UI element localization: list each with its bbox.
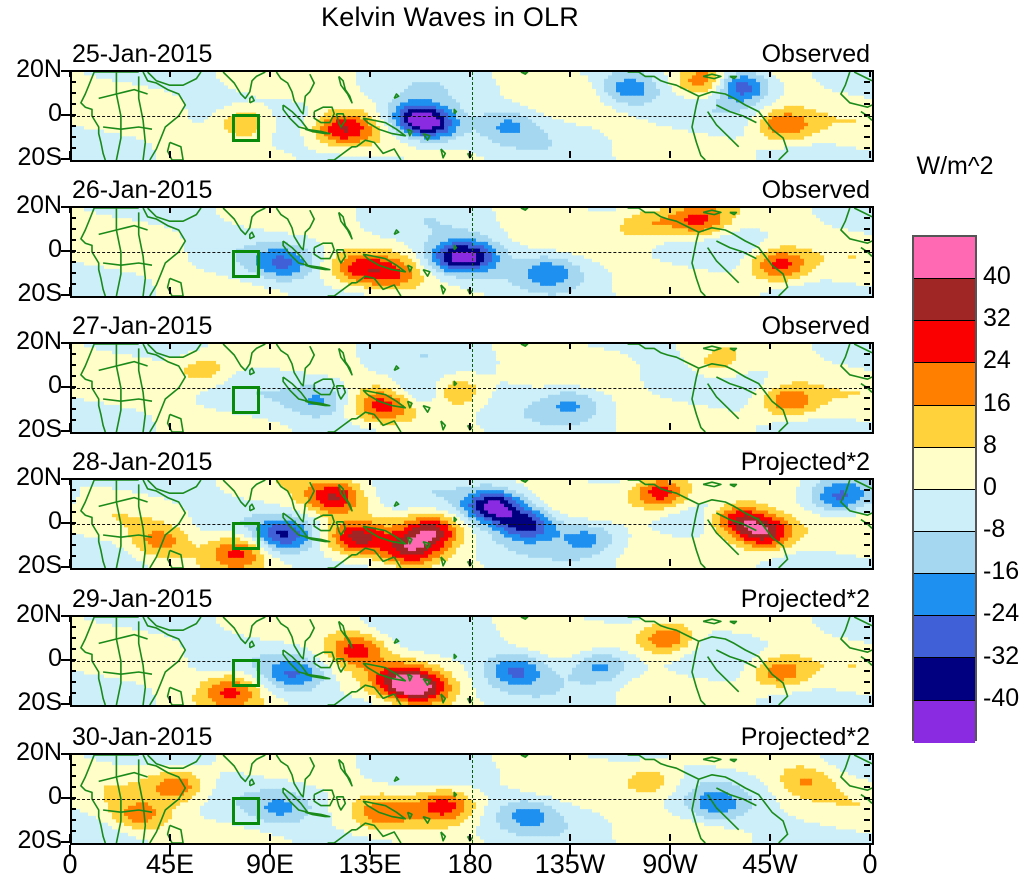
x-axis-tick-mark <box>169 696 171 703</box>
dateline-180-marker <box>472 755 473 843</box>
x-axis-tick-mark <box>469 423 471 430</box>
colorbar-band <box>914 237 975 279</box>
x-axis-tick-mark <box>269 206 271 213</box>
y-axis-minor-tick <box>70 283 76 285</box>
x-axis-tick-mark <box>269 834 271 841</box>
y-axis-minor-tick <box>70 670 76 672</box>
x-axis-tick-mark <box>569 615 571 622</box>
x-axis-tick-mark <box>269 423 271 430</box>
x-axis-tick-mark <box>269 753 271 760</box>
x-axis-tick-mark <box>69 559 71 566</box>
y-axis-minor-tick <box>864 147 870 149</box>
x-axis-tick-mark <box>769 753 771 760</box>
y-axis-minor-tick <box>70 626 76 628</box>
y-axis-minor-tick <box>70 408 76 410</box>
x-axis-tick-mark <box>69 70 71 77</box>
y-axis-minor-tick <box>70 364 76 366</box>
y-axis-minor-tick <box>864 419 870 421</box>
y-axis-minor-tick <box>70 659 76 661</box>
x-axis-tick-mark <box>869 615 871 622</box>
y-axis-minor-tick <box>70 353 76 355</box>
x-axis-tick-mark <box>869 478 871 485</box>
colorbar-tick-label: 0 <box>983 475 997 500</box>
colorbar-tick-label: 24 <box>983 348 1011 373</box>
y-axis-minor-tick <box>864 637 870 639</box>
region-box-marker <box>232 797 260 825</box>
y-axis-minor-tick <box>70 764 76 766</box>
x-axis-tick-mark <box>69 287 71 294</box>
y-axis-minor-tick <box>70 114 76 116</box>
dateline-180-marker <box>472 480 473 568</box>
x-axis-tick-mark <box>369 478 371 485</box>
x-axis-tick-mark <box>169 615 171 622</box>
y-axis-minor-tick <box>864 228 870 230</box>
colorbar-band <box>914 321 975 363</box>
colorbar-tick-label: 40 <box>983 264 1011 289</box>
x-axis-tick-mark <box>869 834 871 841</box>
region-box-marker <box>232 522 260 550</box>
x-axis-tick-mark <box>769 151 771 158</box>
dateline-180-marker <box>472 208 473 296</box>
x-axis-tick-mark <box>169 70 171 77</box>
x-axis-tick-mark <box>469 615 471 622</box>
map-panel <box>70 753 874 845</box>
y-axis-tick-mark <box>61 797 70 799</box>
x-axis-tick-mark <box>469 834 471 841</box>
y-axis-minor-tick <box>70 511 76 513</box>
y-axis-minor-tick <box>864 775 870 777</box>
x-axis-tick-mark <box>569 696 571 703</box>
y-axis-minor-tick <box>864 386 870 388</box>
x-axis-tick-mark <box>669 615 671 622</box>
colorbar-band <box>914 448 975 490</box>
colorbar-tick-label: -8 <box>983 517 1005 542</box>
y-axis-minor-tick <box>70 522 76 524</box>
x-axis-tick-mark <box>569 478 571 485</box>
x-axis-tick-mark <box>569 151 571 158</box>
x-axis-tick-mark <box>669 478 671 485</box>
y-axis-minor-tick <box>864 511 870 513</box>
x-axis-tick-mark <box>769 696 771 703</box>
x-axis-tick-mark <box>669 342 671 349</box>
y-axis-minor-tick <box>864 408 870 410</box>
x-axis-tick-mark <box>269 559 271 566</box>
x-axis-tick-mark <box>169 834 171 841</box>
x-axis-tick-mark <box>69 206 71 213</box>
y-axis-minor-tick <box>70 239 76 241</box>
colorbar-band <box>914 532 975 574</box>
y-axis-tick-mark <box>61 522 70 524</box>
x-axis-tick-mark <box>769 615 771 622</box>
colorbar-band <box>914 658 975 700</box>
region-box-marker <box>232 250 260 278</box>
x-axis-tick-mark <box>469 696 471 703</box>
x-axis-tick-mark <box>369 151 371 158</box>
x-axis-tick-mark <box>869 70 871 77</box>
x-axis-tick-mark <box>169 206 171 213</box>
y-axis-minor-tick <box>70 217 76 219</box>
y-axis-minor-tick <box>864 808 870 810</box>
y-axis-minor-tick <box>864 114 870 116</box>
y-axis-tick-mark <box>61 386 70 388</box>
x-axis-tick-mark <box>69 151 71 158</box>
colorbar-band <box>914 701 975 743</box>
panel-kind-label: Observed <box>70 178 870 203</box>
y-axis-minor-tick <box>864 103 870 105</box>
x-axis-tick-mark <box>169 753 171 760</box>
panel-kind-label: Projected*2 <box>70 450 870 475</box>
y-axis-minor-tick <box>864 239 870 241</box>
x-axis-tick-mark <box>569 423 571 430</box>
x-axis-tick-mark <box>169 151 171 158</box>
colorbar-tick-label: -24 <box>983 601 1019 626</box>
dateline-180-marker <box>472 617 473 705</box>
y-axis-tick-label: 20S <box>0 281 62 306</box>
y-axis-minor-tick <box>864 217 870 219</box>
y-axis-tick-mark <box>61 158 70 160</box>
y-axis-minor-tick <box>70 819 76 821</box>
y-axis-tick-label: 20S <box>0 553 62 578</box>
map-panel-inner <box>72 208 872 296</box>
y-axis-minor-tick <box>70 797 76 799</box>
map-panel-inner <box>72 72 872 160</box>
x-axis-tick-mark <box>369 287 371 294</box>
x-axis-tick-mark <box>869 559 871 566</box>
x-axis-tick-mark <box>469 151 471 158</box>
y-axis-minor-tick <box>864 786 870 788</box>
x-axis-tick-mark <box>669 834 671 841</box>
y-axis-minor-tick <box>70 544 76 546</box>
x-axis-tick-mark <box>769 478 771 485</box>
y-axis-minor-tick <box>864 555 870 557</box>
map-panel <box>70 70 874 162</box>
y-axis-minor-tick <box>864 544 870 546</box>
x-axis-tick-mark <box>569 70 571 77</box>
y-axis-minor-tick <box>864 136 870 138</box>
y-axis-tick-label: 20N <box>0 740 62 765</box>
x-axis-tick-mark <box>669 753 671 760</box>
x-axis-tick-mark <box>869 342 871 349</box>
x-axis-tick-mark <box>169 478 171 485</box>
y-axis-minor-tick <box>864 250 870 252</box>
x-axis-tick-mark <box>769 287 771 294</box>
y-axis-tick-label: 20N <box>0 465 62 490</box>
colorbar-tick-label: 32 <box>983 306 1011 331</box>
y-axis-minor-tick <box>70 386 76 388</box>
x-axis-tick-mark <box>669 151 671 158</box>
x-axis-tick-mark <box>869 753 871 760</box>
x-axis-tick-mark <box>769 342 771 349</box>
colorbar-tick-label: -16 <box>983 559 1019 584</box>
y-axis-tick-mark <box>61 114 70 116</box>
y-axis-minor-tick <box>864 364 870 366</box>
map-panel-inner <box>72 755 872 843</box>
x-axis-tick-mark <box>769 70 771 77</box>
x-axis-tick-mark <box>569 559 571 566</box>
y-axis-tick-label: 20S <box>0 145 62 170</box>
y-axis-minor-tick <box>70 228 76 230</box>
map-panel <box>70 478 874 570</box>
x-axis-tick-mark <box>469 559 471 566</box>
map-panel-inner <box>72 480 872 568</box>
y-axis-minor-tick <box>70 681 76 683</box>
y-axis-minor-tick <box>864 375 870 377</box>
figure-root: Kelvin Waves in OLR 25-Jan-2015Observed2… <box>0 0 1021 887</box>
colorbar-band <box>914 363 975 405</box>
x-axis-tick-mark <box>269 342 271 349</box>
y-axis-tick-label: 20N <box>0 329 62 354</box>
x-axis-tick-mark <box>569 753 571 760</box>
colorbar-tick-label: -32 <box>983 644 1019 669</box>
x-axis-tick-mark <box>369 753 371 760</box>
y-axis-minor-tick <box>70 533 76 535</box>
x-axis-tick-mark <box>769 834 771 841</box>
x-axis-tick-mark <box>669 423 671 430</box>
y-axis-tick-label: 0 <box>0 509 62 534</box>
region-box-marker <box>232 386 260 414</box>
colorbar-band <box>914 406 975 448</box>
x-axis-tick-mark <box>169 559 171 566</box>
y-axis-minor-tick <box>864 500 870 502</box>
y-axis-minor-tick <box>70 81 76 83</box>
y-axis-minor-tick <box>70 500 76 502</box>
colorbar-unit-label: W/m^2 <box>900 152 1010 181</box>
colorbar <box>912 235 977 741</box>
y-axis-minor-tick <box>70 419 76 421</box>
y-axis-minor-tick <box>864 81 870 83</box>
x-axis-tick-mark <box>269 478 271 485</box>
x-axis-tick-label: 0 <box>810 850 930 878</box>
y-axis-minor-tick <box>70 272 76 274</box>
y-axis-minor-tick <box>70 786 76 788</box>
panel-kind-label: Observed <box>70 42 870 67</box>
region-box-marker <box>232 659 260 687</box>
y-axis-tick-label: 20S <box>0 690 62 715</box>
colorbar-band <box>914 616 975 658</box>
y-axis-minor-tick <box>70 830 76 832</box>
dateline-180-marker <box>472 72 473 160</box>
y-axis-minor-tick <box>864 681 870 683</box>
y-axis-minor-tick <box>70 125 76 127</box>
y-axis-tick-mark <box>61 294 70 296</box>
x-axis-tick-mark <box>169 287 171 294</box>
x-axis-tick-mark <box>369 206 371 213</box>
x-axis-tick-mark <box>569 834 571 841</box>
y-axis-tick-label: 20N <box>0 193 62 218</box>
map-panel <box>70 342 874 434</box>
y-axis-tick-mark <box>61 430 70 432</box>
region-box-marker <box>232 114 260 142</box>
x-axis-tick-mark <box>869 423 871 430</box>
y-axis-minor-tick <box>70 375 76 377</box>
x-axis-tick-mark <box>469 287 471 294</box>
x-axis-tick-mark <box>469 70 471 77</box>
y-axis-minor-tick <box>864 830 870 832</box>
x-axis-tick-mark <box>569 287 571 294</box>
x-axis-tick-mark <box>269 70 271 77</box>
x-axis-tick-mark <box>269 151 271 158</box>
x-axis-tick-mark <box>769 423 771 430</box>
y-axis-minor-tick <box>70 489 76 491</box>
y-axis-minor-tick <box>864 626 870 628</box>
panel-kind-label: Projected*2 <box>70 587 870 612</box>
y-axis-minor-tick <box>864 397 870 399</box>
x-axis-tick-mark <box>369 342 371 349</box>
y-axis-minor-tick <box>70 397 76 399</box>
x-axis-tick-mark <box>169 342 171 349</box>
x-axis-tick-mark <box>369 615 371 622</box>
x-axis-tick-mark <box>869 206 871 213</box>
y-axis-tick-mark <box>61 703 70 705</box>
y-axis-minor-tick <box>864 261 870 263</box>
x-axis-tick-mark <box>69 834 71 841</box>
dateline-180-marker <box>472 344 473 432</box>
x-axis-tick-mark <box>769 206 771 213</box>
y-axis-tick-mark <box>61 841 70 843</box>
y-axis-minor-tick <box>70 555 76 557</box>
y-axis-minor-tick <box>864 764 870 766</box>
y-axis-tick-label: 20N <box>0 57 62 82</box>
y-axis-minor-tick <box>864 272 870 274</box>
x-axis-tick-mark <box>269 696 271 703</box>
x-axis-tick-mark <box>369 696 371 703</box>
y-axis-minor-tick <box>864 659 870 661</box>
map-panel <box>70 206 874 298</box>
y-axis-tick-label: 20N <box>0 602 62 627</box>
x-axis-tick-mark <box>269 615 271 622</box>
y-axis-minor-tick <box>70 637 76 639</box>
panel-kind-label: Projected*2 <box>70 725 870 750</box>
y-axis-minor-tick <box>70 692 76 694</box>
colorbar-band <box>914 574 975 616</box>
y-axis-tick-label: 0 <box>0 237 62 262</box>
x-axis-tick-mark <box>869 151 871 158</box>
y-axis-tick-label: 0 <box>0 373 62 398</box>
y-axis-tick-label: 0 <box>0 646 62 671</box>
x-axis-tick-mark <box>669 70 671 77</box>
y-axis-minor-tick <box>70 250 76 252</box>
x-axis-tick-mark <box>469 206 471 213</box>
x-axis-tick-mark <box>269 287 271 294</box>
x-axis-tick-mark <box>369 70 371 77</box>
y-axis-minor-tick <box>70 648 76 650</box>
colorbar-tick-label: -40 <box>983 686 1019 711</box>
x-axis-tick-mark <box>469 342 471 349</box>
x-axis-tick-mark <box>769 559 771 566</box>
y-axis-minor-tick <box>864 283 870 285</box>
x-axis-tick-mark <box>69 696 71 703</box>
y-axis-tick-mark <box>61 566 70 568</box>
colorbar-band <box>914 490 975 532</box>
x-axis-tick-mark <box>69 615 71 622</box>
x-axis-tick-mark <box>869 287 871 294</box>
x-axis-tick-mark <box>169 423 171 430</box>
y-axis-minor-tick <box>864 522 870 524</box>
x-axis-tick-mark <box>569 342 571 349</box>
y-axis-minor-tick <box>70 136 76 138</box>
x-axis-tick-mark <box>569 206 571 213</box>
x-axis-tick-mark <box>69 753 71 760</box>
y-axis-minor-tick <box>70 261 76 263</box>
y-axis-minor-tick <box>864 797 870 799</box>
y-axis-minor-tick <box>864 648 870 650</box>
y-axis-minor-tick <box>864 670 870 672</box>
y-axis-minor-tick <box>864 125 870 127</box>
y-axis-minor-tick <box>864 533 870 535</box>
x-axis-tick-mark <box>369 559 371 566</box>
map-panel-inner <box>72 617 872 705</box>
y-axis-tick-label: 0 <box>0 101 62 126</box>
y-axis-minor-tick <box>864 489 870 491</box>
x-axis-tick-mark <box>669 559 671 566</box>
map-panel-inner <box>72 344 872 432</box>
y-axis-minor-tick <box>70 103 76 105</box>
page-title: Kelvin Waves in OLR <box>0 2 900 33</box>
colorbar-band <box>914 279 975 321</box>
x-axis-tick-mark <box>669 696 671 703</box>
x-axis-tick-mark <box>669 206 671 213</box>
colorbar-tick-label: 8 <box>983 433 997 458</box>
x-axis-tick-mark <box>469 478 471 485</box>
y-axis-minor-tick <box>864 92 870 94</box>
x-axis-tick-mark <box>869 696 871 703</box>
y-axis-minor-tick <box>70 147 76 149</box>
y-axis-tick-label: 0 <box>0 784 62 809</box>
y-axis-minor-tick <box>864 353 870 355</box>
map-panel <box>70 615 874 707</box>
x-axis-tick-mark <box>469 753 471 760</box>
y-axis-minor-tick <box>70 775 76 777</box>
y-axis-minor-tick <box>864 819 870 821</box>
y-axis-tick-mark <box>61 250 70 252</box>
x-axis-tick-mark <box>69 342 71 349</box>
panel-kind-label: Observed <box>70 314 870 339</box>
x-axis-tick-mark <box>369 423 371 430</box>
x-axis-tick-mark <box>669 287 671 294</box>
y-axis-tick-mark <box>61 659 70 661</box>
y-axis-minor-tick <box>864 692 870 694</box>
x-axis-tick-mark <box>369 834 371 841</box>
y-axis-minor-tick <box>70 808 76 810</box>
x-axis-tick-mark <box>69 423 71 430</box>
y-axis-tick-label: 20S <box>0 417 62 442</box>
colorbar-tick-label: 16 <box>983 391 1011 416</box>
x-axis-tick-mark <box>69 478 71 485</box>
y-axis-minor-tick <box>70 92 76 94</box>
